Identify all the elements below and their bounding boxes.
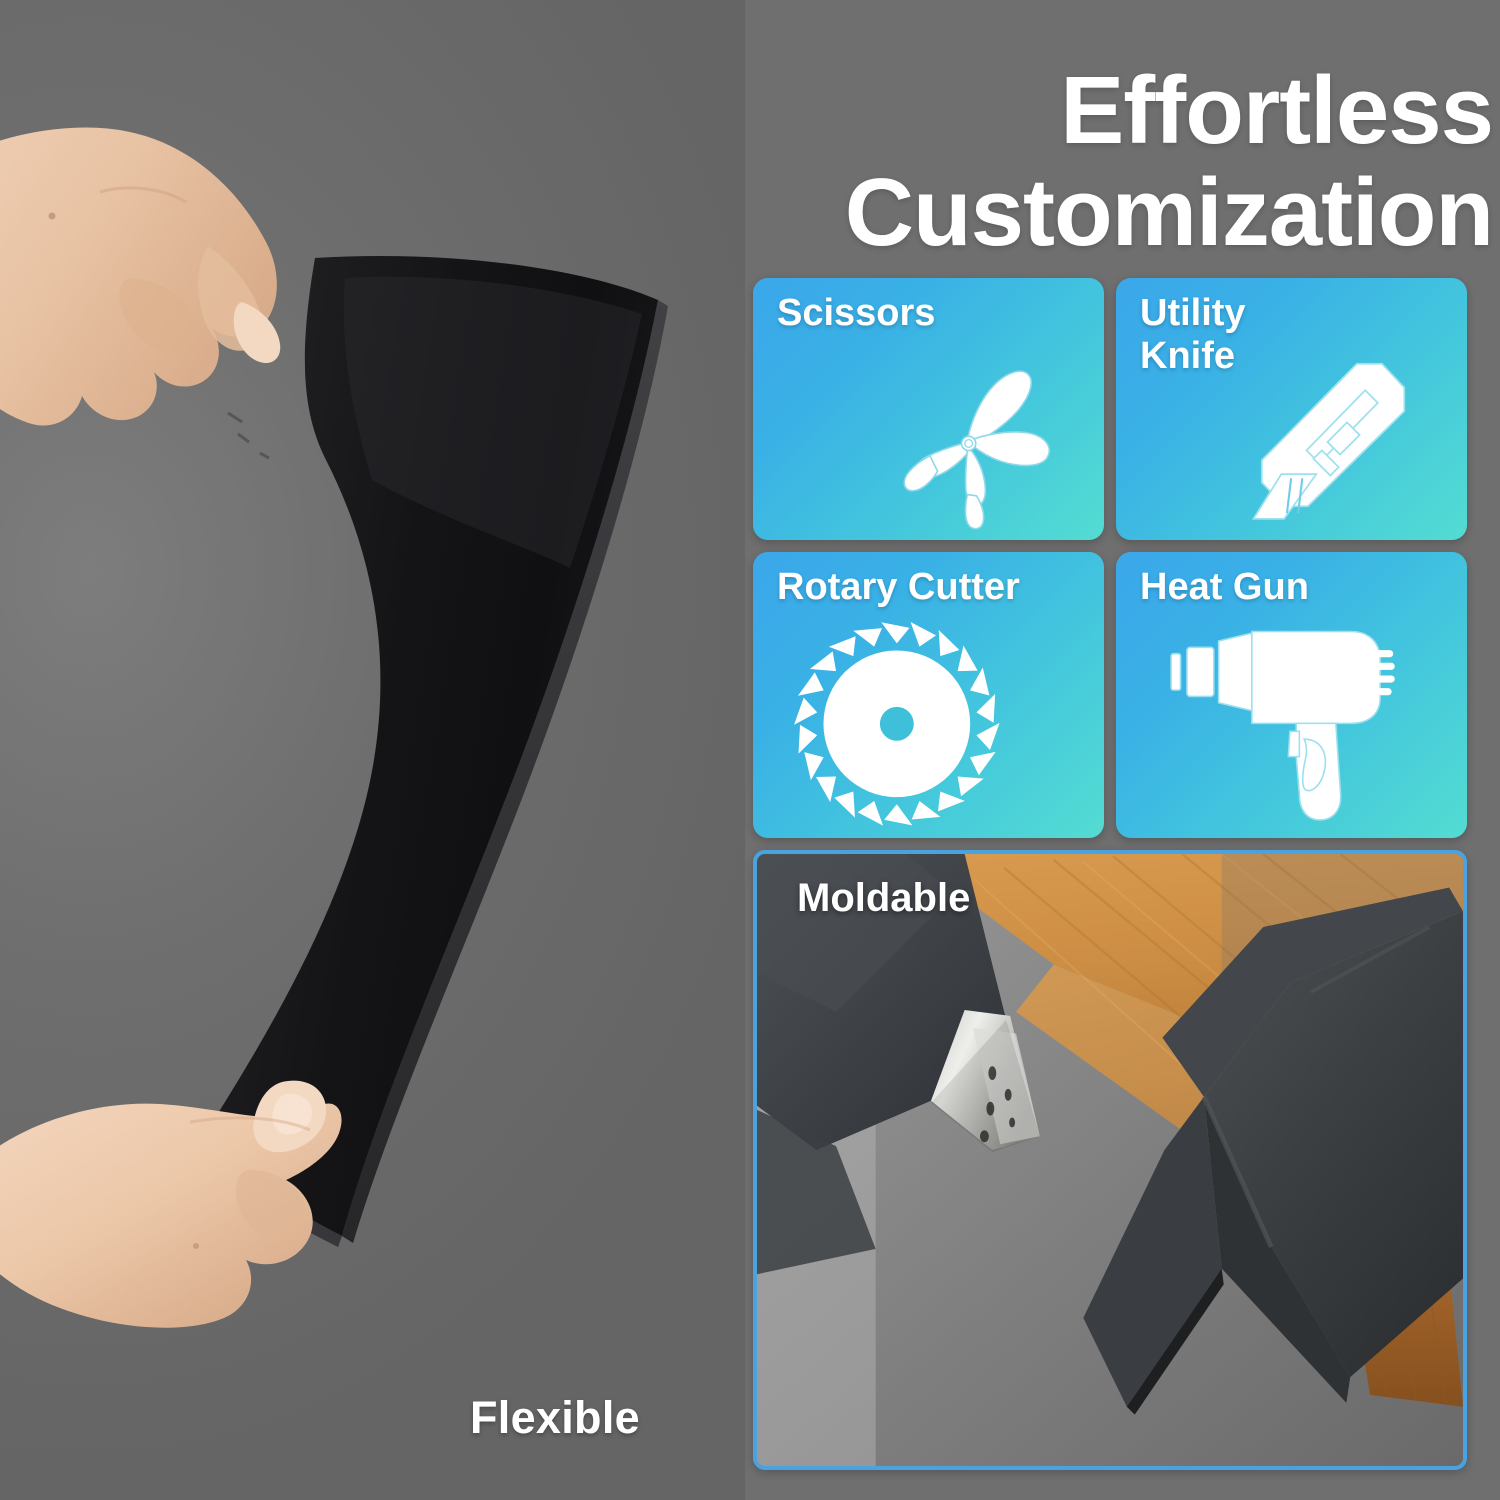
rotary-cutter-icon: [781, 618, 1013, 830]
hand-top: [0, 96, 340, 516]
tool-card-utility-knife[interactable]: Utility Knife: [1116, 278, 1467, 540]
headline-line-1: Effortless: [1060, 57, 1493, 164]
tool-card-label: Utility Knife: [1140, 292, 1246, 377]
page-title: Effortless Customization: [753, 60, 1493, 264]
tool-card-label: Scissors: [777, 292, 935, 335]
tool-card-rotary-cutter[interactable]: Rotary Cutter: [753, 552, 1104, 838]
headline-line-2: Customization: [753, 162, 1493, 264]
moldable-scene: [757, 854, 1463, 1466]
tool-card-scissors[interactable]: Scissors: [753, 278, 1104, 540]
flexible-caption: Flexible: [470, 1392, 640, 1444]
tool-card-heat-gun[interactable]: Heat Gun: [1116, 552, 1467, 838]
tool-card-label: Rotary Cutter: [777, 566, 1020, 609]
heat-gun-icon: [1130, 622, 1453, 828]
right-content-column: Effortless Customization Scissors: [745, 0, 1500, 1500]
hand-bottom: [0, 1068, 390, 1468]
moldable-photo-panel: Moldable: [753, 850, 1467, 1470]
tool-card-grid: Scissors: [753, 278, 1467, 838]
moldable-caption: Moldable: [797, 876, 970, 921]
flexible-photo-panel: Flexible: [0, 0, 745, 1500]
tool-card-label: Heat Gun: [1140, 566, 1309, 609]
scissors-icon: [841, 342, 1094, 536]
